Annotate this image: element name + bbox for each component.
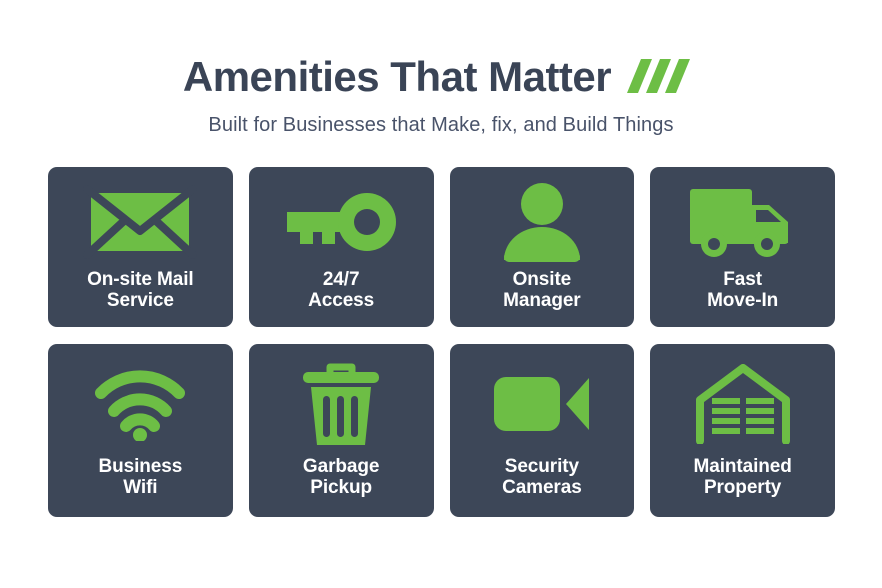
page-header: Amenities That Matter Built for Business… <box>0 0 882 137</box>
amenity-label: Garbage Pickup <box>297 456 385 499</box>
amenity-tile-24-7-access[interactable]: 24/7 Access <box>249 167 434 327</box>
page-subtitle: Built for Businesses that Make, fix, and… <box>0 113 882 137</box>
video-camera-icon <box>492 358 592 450</box>
wifi-icon <box>93 358 187 450</box>
amenity-tile-maintained-property[interactable]: Maintained Property <box>650 344 835 517</box>
trash-can-icon <box>301 358 381 450</box>
amenity-label: Fast Move-In <box>701 269 784 312</box>
amenity-tile-fast-move-in[interactable]: Fast Move-In <box>650 167 835 327</box>
title-row: Amenities That Matter <box>0 52 882 101</box>
amenity-label: Security Cameras <box>496 456 588 499</box>
amenity-tile-business-wifi[interactable]: Business Wifi <box>48 344 233 517</box>
truck-icon <box>688 181 798 263</box>
envelope-icon <box>83 181 197 263</box>
amenity-label: 24/7 Access <box>302 269 380 312</box>
amenity-label: Onsite Manager <box>497 269 586 312</box>
amenity-label: On-site Mail Service <box>81 269 199 312</box>
amenities-page: Amenities That Matter Built for Business… <box>0 0 882 588</box>
key-icon <box>283 181 399 263</box>
person-icon <box>498 181 586 263</box>
amenity-label: Maintained Property <box>688 456 798 499</box>
amenity-label: Business Wifi <box>93 456 189 499</box>
amenity-tile-garbage-pickup[interactable]: Garbage Pickup <box>249 344 434 517</box>
warehouse-icon <box>695 358 791 450</box>
three-slash-logo-icon <box>627 56 699 101</box>
amenity-tile-security-cameras[interactable]: Security Cameras <box>450 344 635 517</box>
amenity-tile-onsite-manager[interactable]: Onsite Manager <box>450 167 635 327</box>
amenities-grid: On-site Mail Service 24/7 Access <box>48 167 835 517</box>
amenity-tile-on-site-mail-service[interactable]: On-site Mail Service <box>48 167 233 327</box>
page-title: Amenities That Matter <box>183 56 611 98</box>
